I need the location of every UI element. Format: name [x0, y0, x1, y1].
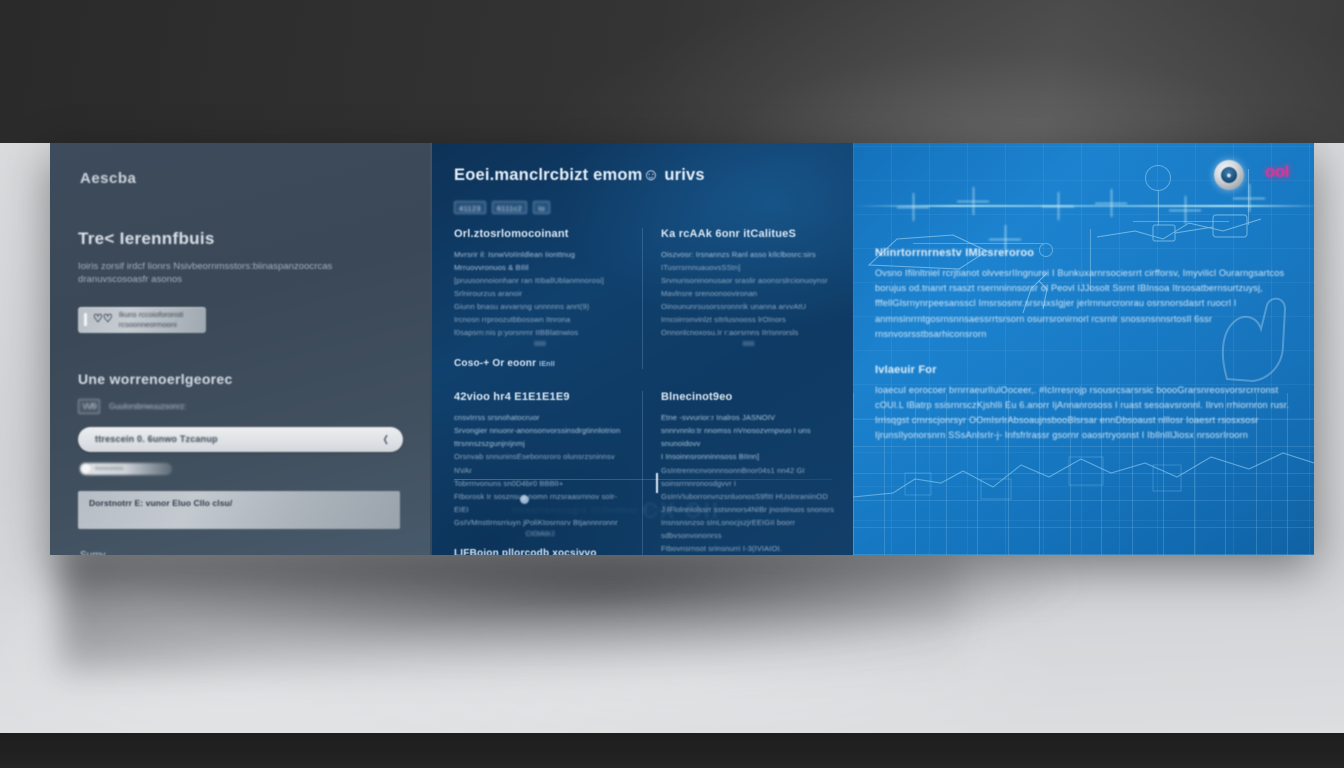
- footer-superscript: IEnII: [539, 361, 555, 368]
- background-bottom-band: [0, 733, 1344, 768]
- middle-column-2: Ka rcAAk 6onr itCalitueS Oiszvosr: Irsna…: [642, 228, 852, 369]
- middle-chip-1[interactable]: 41123: [454, 201, 486, 214]
- line: Oinoununrsusorssronnrik unanna arvvAtU: [661, 300, 836, 313]
- middle-column-2-body: Oiszvosr: Irsnannzs Ranl asso kIlclbosrc…: [661, 248, 836, 339]
- toggle-knob-icon: [80, 463, 91, 474]
- chip-label-line1: Ikuns rccoioforonsti: [119, 310, 184, 319]
- sidebar-info-card[interactable]: Dorstnotrr E: vunor Eluo Cllo clsu/: [78, 491, 400, 529]
- user-avatar-icon[interactable]: ●: [1214, 160, 1244, 190]
- sidebar-badge-row: VV/9 Guulorsbnwuuzsonrz:: [78, 399, 404, 414]
- line: ttrsnnszszgunjnIjnmj: [454, 437, 626, 450]
- line: Srlnirourzus aranoir: [454, 287, 626, 300]
- line: cnsvIrrss srsnohatocruor: [454, 411, 626, 424]
- chevron-left-icon[interactable]: ❮: [383, 434, 389, 445]
- line: l0sapsrn:nis p:yorsnrnr IIBBlatnwios: [454, 326, 626, 339]
- sidebar-heading: Tre< Ierennfbuis: [78, 229, 404, 249]
- avatar-inner-glyph: ●: [1221, 167, 1237, 183]
- middle-column-2-heading: Ka rcAAk 6onr itCalitueS: [661, 228, 836, 240]
- line: Mavlnsre srenoonoovironan: [661, 287, 836, 300]
- app-logo[interactable]: Aescba: [80, 170, 404, 187]
- line: GsIVMnstIrnsrriuyn jPoliKtosrnsrv Btjann…: [454, 516, 626, 529]
- hero-section-1-heading: Nlinrtorrnrnestv IMIcsreroroo: [875, 247, 1292, 259]
- middle-column-1-heading: Orl.ztosrlomocoinant: [454, 228, 626, 240]
- sidebar-subtitle: Ioiris zorsif irdcf lionrs Nsivbeornmsst…: [78, 261, 404, 287]
- middle-column-1: Orl.ztosrlomocoinant Mvrsrir il: IsnwVoI…: [432, 228, 642, 369]
- line: Oiszvosr: Irsnannzs Ranl asso kIlclbosrc…: [661, 248, 836, 261]
- sidebar-badge-label: Guulorsbnwuuzsonrz:: [109, 402, 186, 411]
- sidebar-info-card-title: Dorstnotrr E: vunor Eluo Cllo clsu/: [89, 498, 400, 508]
- middle-chip-3[interactable]: Io: [533, 201, 550, 214]
- app-window: Aescba Tre< Ierennfbuis Ioiris zorsif ir…: [50, 143, 1314, 555]
- pagination-dot-icon[interactable]: [520, 495, 529, 504]
- hero-section-2-heading: IvIaeuir For: [875, 364, 1292, 376]
- sidebar-list: Sumy EolRInoI8: [78, 543, 390, 555]
- line: GsIntrenncnvonnnsonnBnor04s1 nn42 GI soi…: [661, 464, 836, 490]
- line: I Insoinnsronninnsoss BIInn]: [661, 450, 836, 463]
- middle-chip-2[interactable]: 6111c2: [492, 201, 527, 214]
- hero-section-2-body: IoaecuI eorocoer brnrraeurlIulOoceer,. #…: [875, 383, 1292, 444]
- footer-text: Coso-+ Or eoonr: [454, 358, 536, 369]
- chip-label-line2: rcsoonneormooni: [119, 320, 184, 329]
- sidebar-toggle-switch[interactable]: Innnronirs: [80, 463, 172, 475]
- background-top: [0, 0, 1344, 146]
- hero-chart-decor: [853, 443, 1314, 513]
- middle-column-3: 42vioo hr4 E1E1E1E9 cnsvIrrss srsnohatoc…: [432, 391, 642, 555]
- line: Ftbovnsrnsot srinsnurri I-3(IVIAIOI.: [661, 542, 836, 555]
- line: Srvongier nnuonr-anonsonvorssinsdrgtinnl…: [454, 424, 626, 437]
- sidebar-item-1[interactable]: Sumy: [78, 543, 390, 555]
- line: Ircnosn rrproozutbbosswn Itnrona: [454, 313, 626, 326]
- brand-logo[interactable]: ool: [1265, 162, 1289, 182]
- middle-watermark-large: CX OII: [642, 498, 720, 524]
- middle-column-3-number: CIOIAIIrJ: [454, 531, 626, 538]
- middle-panel-title: Eoei.manclrcbizt emom☺ urivs: [454, 166, 853, 185]
- middle-column-1-body: Mvrsrir il: IsnwVoIInldlean Iionttnug Mr…: [454, 248, 626, 339]
- sidebar-select-field[interactable]: ttrescein 0. 6unwo Tzcanup ❮: [78, 427, 403, 452]
- middle-columns-row-1: Orl.ztosrlomocoinant Mvrsrir il: IsnwVoI…: [432, 228, 853, 369]
- middle-columns-row-2: 42vioo hr4 E1E1E1E9 cnsvIrrss srsnohatoc…: [432, 391, 853, 555]
- line: Tobrrnvonuns sn0D4br0 BBBlI+: [454, 477, 626, 490]
- line: Onnonlcnoxosu.Ir r:aorsrnns IIrIsnrorsls: [661, 326, 836, 339]
- sidebar-select-value: ttrescein 0. 6unwo Tzcanup: [95, 434, 218, 444]
- middle-column-2-number: IIIIII: [661, 341, 836, 348]
- card-badge-icon: VV/9: [78, 399, 100, 414]
- middle-column-1-footer: Coso-+ Or eoonr IEnII: [454, 358, 626, 369]
- sidebar-section-heading: Une worrenoerlgeorec: [78, 371, 404, 387]
- line: [pruusonnoionhanr ran ItIballUblanmnoros…: [454, 274, 626, 287]
- heart-tag-icon: ♡♡: [93, 314, 113, 325]
- middle-column-4: Blnecinot9eo Etne -svvurior:r Inalros JA…: [642, 391, 852, 555]
- hero-section-1-body: Ovsno Ifilnltniel rcrjtianot olvvesrIIng…: [875, 266, 1292, 342]
- line: ITusrrsrnnuauovsSStn]: [661, 261, 836, 274]
- sidebar-toggle-label: Innnronirs: [95, 466, 123, 472]
- chip-accent-bar: [84, 313, 87, 326]
- middle-chip-group: 41123 6111c2 Io: [454, 201, 853, 214]
- middle-column-4-heading: Blnecinot9eo: [661, 391, 836, 403]
- middle-column-4-body: Etne -svvurior:r Inalros JASNOIV snnrvnn…: [661, 411, 836, 555]
- line: Irncoirronvinlzt sItrlusnooss lrOInors: [661, 313, 836, 326]
- line: Mrruovvronuos & BIlIl: [454, 261, 626, 274]
- middle-column-3-heading: 42vioo hr4 E1E1E1E9: [454, 391, 626, 403]
- line: Orsnvab snnuninsEsebonsroro olunsrzsninn…: [454, 450, 626, 476]
- line: Giunn bnasu avvarsng unnnnns anrt(9): [454, 300, 626, 313]
- right-hero-panel: ● ool Nlinrtorrnrnestv IMIcsreroroo Ovsn…: [853, 143, 1314, 555]
- hero-content: Nlinrtorrnrnestv IMIcsreroroo Ovsno Ifil…: [853, 143, 1314, 444]
- sidebar-promo-chip[interactable]: ♡♡ Ikuns rccoioforonsti rcsoonneormooni: [78, 307, 206, 333]
- line: Mvrsrir il: IsnwVoIInldlean Iionttnug: [454, 248, 626, 261]
- line: snnrvnnlo:tr nnomss nVnosozvrnpvuo I uns…: [661, 424, 836, 450]
- middle-panel: Eoei.manclrcbizt emom☺ urivs 41123 6111c…: [432, 143, 853, 555]
- screenshot-root: Aescba Tre< Ierennfbuis Ioiris zorsif ir…: [0, 0, 1344, 768]
- sidebar-panel: Aescba Tre< Ierennfbuis Ioiris zorsif ir…: [50, 143, 432, 555]
- line: Srvnurisoninonusaor sraslir aoonsrslrcio…: [661, 274, 836, 287]
- middle-column-1-number: IIIIII: [454, 341, 626, 348]
- line: Etne -svvurior:r Inalros JASNOIV: [661, 411, 836, 424]
- middle-column-3-footer: LIFBoion pllorcodb xocsivvo tloenr gjaor…: [454, 548, 626, 555]
